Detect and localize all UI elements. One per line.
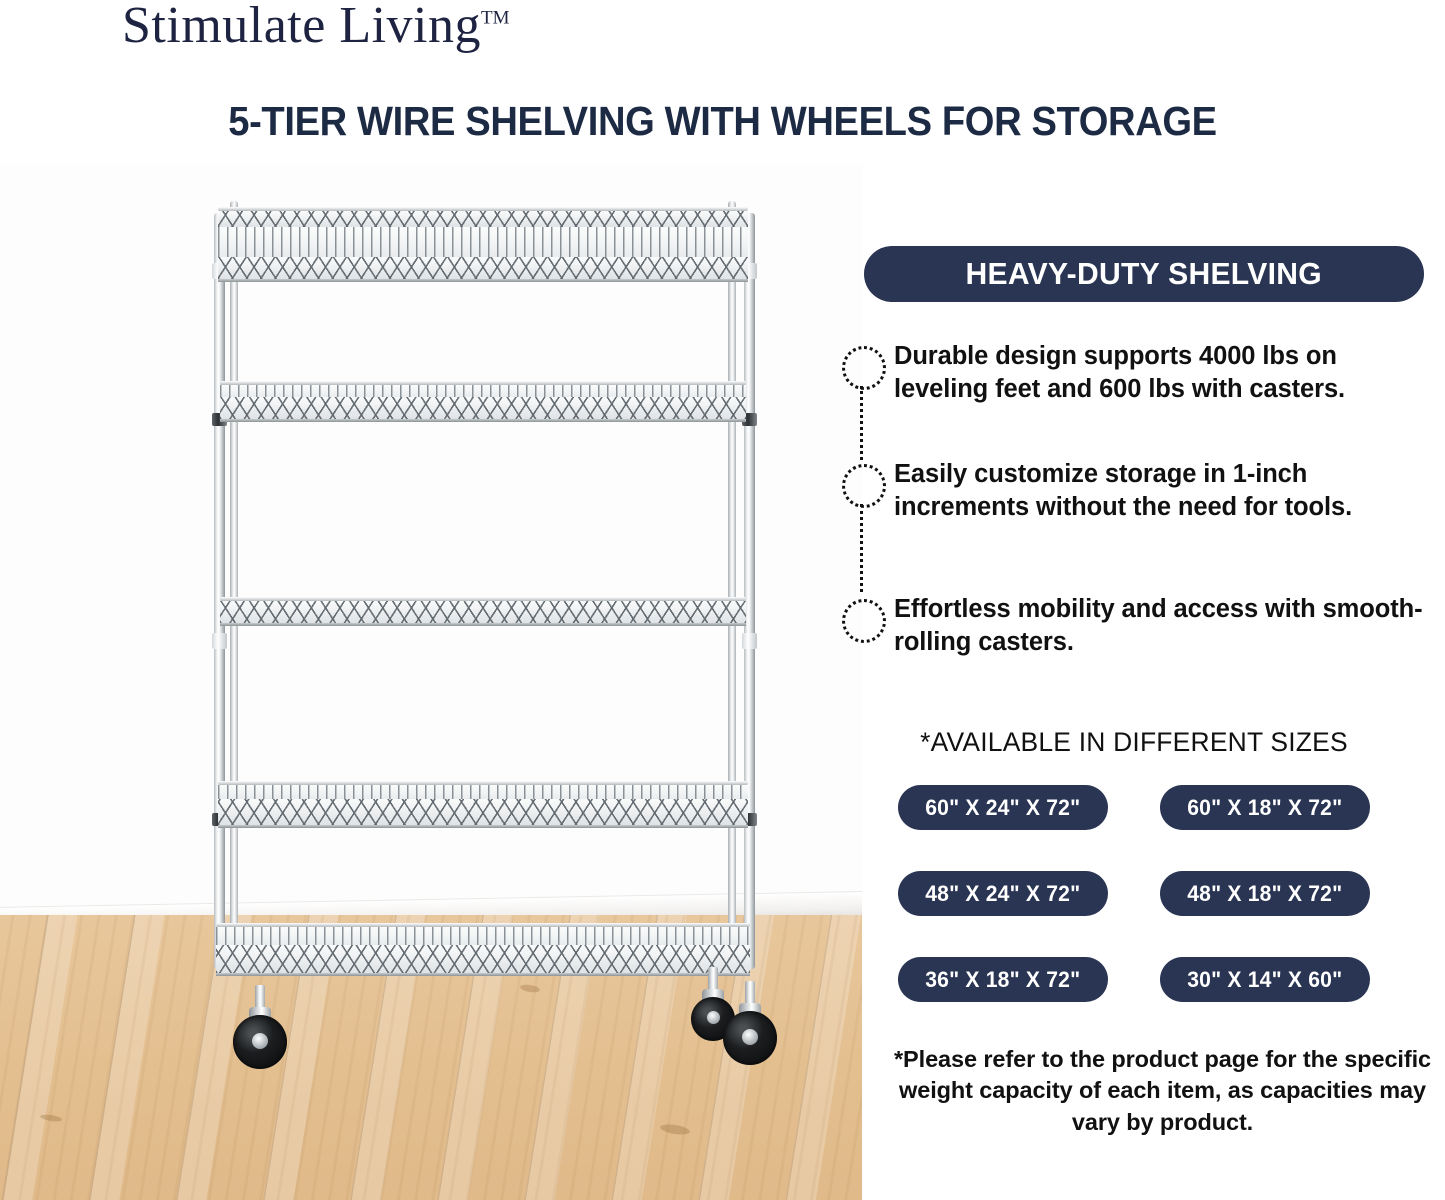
- feature-item-3: Effortless mobility and access with smoo…: [834, 587, 1434, 697]
- capacity-footnote: *Please refer to the product page for th…: [890, 1044, 1435, 1138]
- feature-text-2: Easily customize storage in 1-inch incre…: [894, 452, 1434, 523]
- product-photo: [0, 165, 862, 1200]
- feature-marker-3: [834, 587, 894, 697]
- feature-list: Durable design supports 4000 lbs on leve…: [834, 334, 1434, 697]
- size-option[interactable]: 48" X 24" X 72": [898, 871, 1108, 916]
- heavy-duty-badge-label: HEAVY-DUTY SHELVING: [966, 256, 1322, 292]
- size-option[interactable]: 60" X 18" X 72": [1160, 785, 1370, 830]
- shelf-post-front-left: [214, 213, 225, 969]
- size-option-label: 30" X 14" X 60": [1187, 967, 1342, 993]
- shelving-unit: [212, 185, 760, 1015]
- dotted-circle-icon: [842, 346, 886, 390]
- dotted-connector-icon: [860, 386, 863, 460]
- size-option[interactable]: 36" X 18" X 72": [898, 957, 1108, 1002]
- dotted-connector-icon: [860, 504, 863, 592]
- page-title: 5-TIER WIRE SHELVING WITH WHEELS FOR STO…: [51, 98, 1395, 145]
- shelf-tier-4: [218, 781, 748, 837]
- trademark-mark: TM: [481, 8, 510, 29]
- size-option-label: 36" X 18" X 72": [925, 967, 1080, 993]
- dotted-circle-icon: [842, 464, 886, 508]
- size-option-label: 60" X 24" X 72": [925, 795, 1080, 821]
- shelf-tier-3: [220, 597, 746, 637]
- shelf-tier-5: [216, 923, 750, 985]
- feature-text-1: Durable design supports 4000 lbs on leve…: [894, 334, 1434, 405]
- shelf-post-front-right: [744, 213, 755, 969]
- dotted-circle-icon: [842, 599, 886, 643]
- size-option[interactable]: 48" X 18" X 72": [1160, 871, 1370, 916]
- feature-item-1: Durable design supports 4000 lbs on leve…: [834, 334, 1434, 452]
- size-option-label: 60" X 18" X 72": [1187, 795, 1342, 821]
- size-option-label: 48" X 18" X 72": [1187, 881, 1342, 907]
- shelf-tier-2: [220, 381, 746, 429]
- brand-name: Stimulate Living: [122, 0, 481, 54]
- feature-marker-1: [834, 334, 894, 452]
- size-option[interactable]: 60" X 24" X 72": [898, 785, 1108, 830]
- infographic-canvas: Stimulate LivingTM 5-TIER WIRE SHELVING …: [0, 0, 1445, 1200]
- size-option-label: 48" X 24" X 72": [925, 881, 1080, 907]
- heavy-duty-badge: HEAVY-DUTY SHELVING: [864, 246, 1424, 302]
- shelf-tier-1: [218, 207, 748, 291]
- feature-marker-2: [834, 452, 894, 587]
- sizes-heading: *AVAILABLE IN DIFFERENT SIZES: [840, 727, 1428, 758]
- size-options-grid: 60" X 24" X 72" 60" X 18" X 72" 48" X 24…: [898, 785, 1398, 1002]
- size-option[interactable]: 30" X 14" X 60": [1160, 957, 1370, 1002]
- brand-logo: Stimulate LivingTM: [122, 0, 509, 55]
- feature-text-3: Effortless mobility and access with smoo…: [894, 587, 1434, 658]
- feature-item-2: Easily customize storage in 1-inch incre…: [834, 452, 1434, 587]
